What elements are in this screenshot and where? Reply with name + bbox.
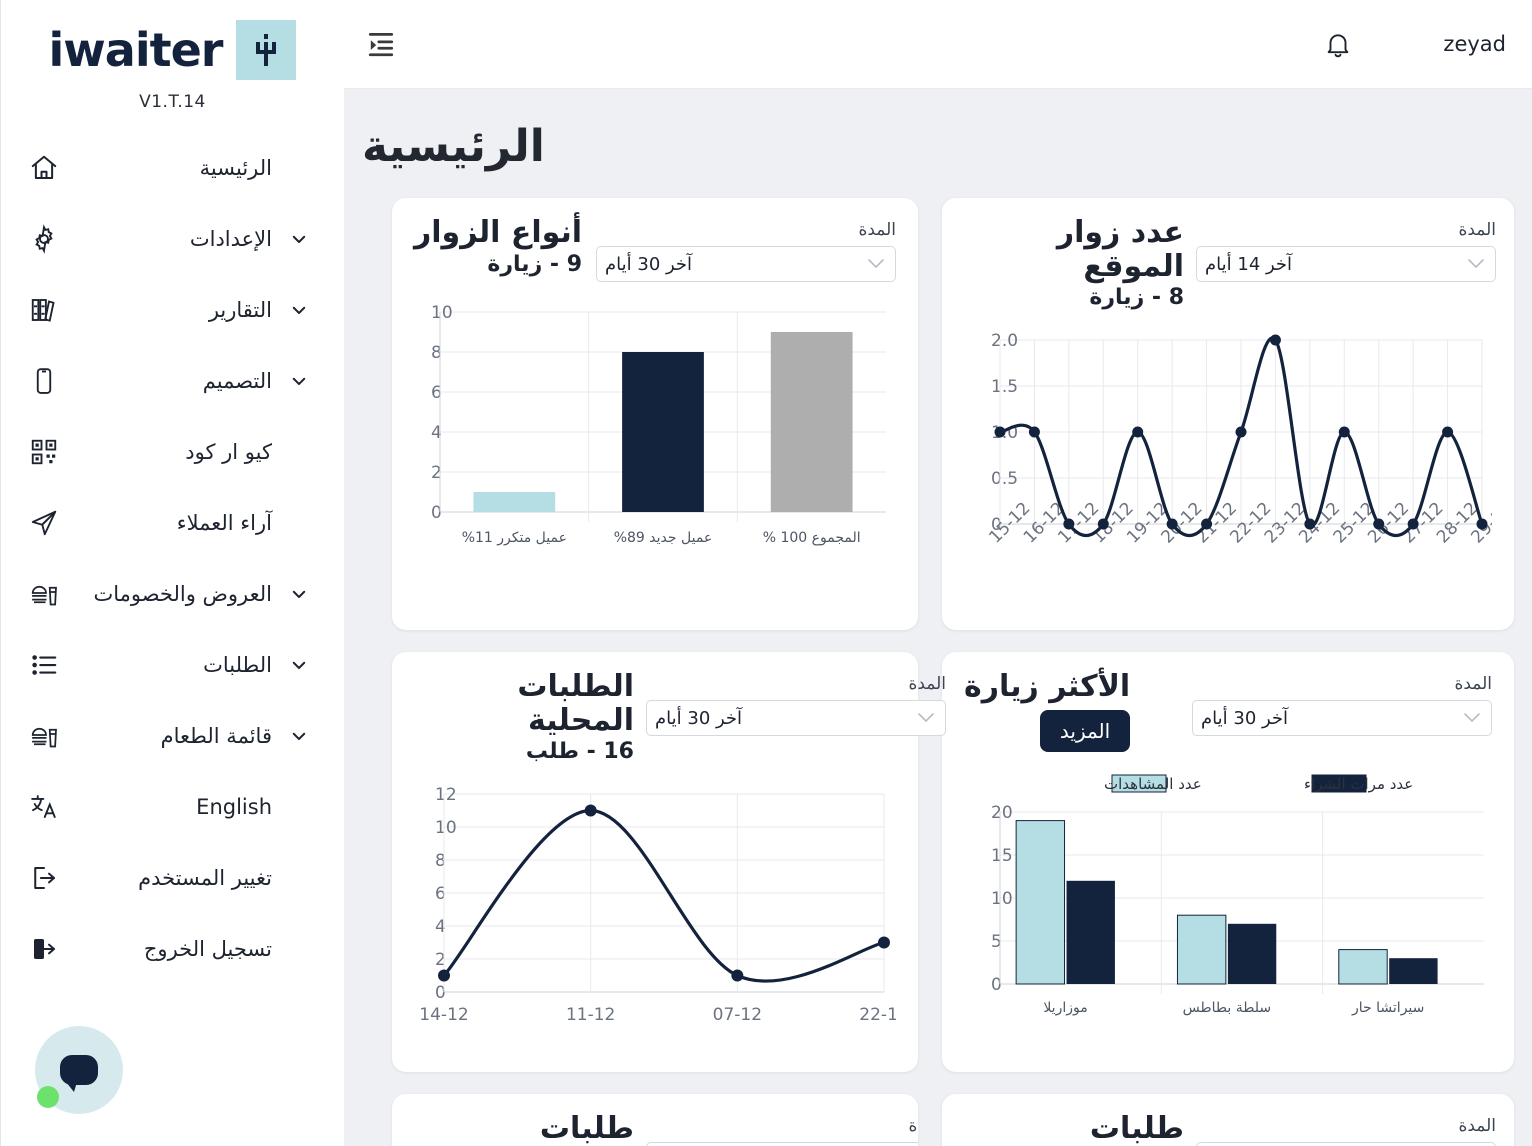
sidebar-item-qrcode[interactable]: كيو ار كود xyxy=(1,416,344,487)
svg-text:سيراتشا حار: سيراتشا حار xyxy=(1351,1000,1424,1016)
chevron-down-icon[interactable] xyxy=(288,301,310,319)
chart-visitor-types: 0246810عميل متكرر 11%عميل جديد 89%المجمو… xyxy=(414,298,896,588)
chevron-down-icon xyxy=(867,256,885,272)
chevron-down-icon[interactable] xyxy=(288,230,310,248)
sidebar-item-label: آراء العملاء xyxy=(61,511,288,535)
chevron-down-icon xyxy=(1467,256,1485,272)
send-paper-plane-icon xyxy=(27,506,61,540)
menu-collapse-icon[interactable] xyxy=(344,30,418,58)
topbar: zeyad xyxy=(344,0,1532,89)
svg-text:11-12: 11-12 xyxy=(566,1005,615,1025)
chevron-down-icon[interactable] xyxy=(288,372,310,390)
bell-icon[interactable] xyxy=(1323,29,1383,59)
sidebar-item-label: تسجيل الخروج xyxy=(61,937,288,961)
card-subtitle: 8 - زيارة xyxy=(964,285,1184,310)
svg-text:12: 12 xyxy=(435,785,457,805)
svg-text:موزاريلا: موزاريلا xyxy=(1043,1000,1087,1016)
burger-drink-icon xyxy=(27,577,61,611)
sidebar-item-language[interactable]: English xyxy=(1,771,344,842)
duration-select[interactable]: آخر 30 أيام xyxy=(596,246,896,282)
duration-select-value: آخر 30 أيام xyxy=(655,708,742,729)
duration-select[interactable]: آخر 30 أيام xyxy=(1192,700,1492,736)
home-icon xyxy=(27,151,61,185)
switch-user-icon xyxy=(27,861,61,895)
svg-text:10: 10 xyxy=(435,818,457,838)
chart-site-visitors: 00.51.01.52.015-1216-1217-1218-1219-1220… xyxy=(964,326,1492,616)
card-most-visited: الأكثر زيارة المزيد المدة آخر 30 أيام xyxy=(942,652,1514,1072)
svg-text:عميل متكرر 11%: عميل متكرر 11% xyxy=(462,530,567,546)
card-title: الطلبات المحلية xyxy=(414,670,634,737)
sidebar-item-label: التصميم xyxy=(61,369,288,393)
duration-select[interactable]: آخر 30 أيام xyxy=(646,700,946,736)
sidebar-item-offers-discounts[interactable]: العروض والخصومات xyxy=(1,558,344,629)
sidebar-item-home[interactable]: الرئيسية xyxy=(1,132,344,203)
chevron-down-icon xyxy=(1463,710,1481,726)
svg-text:10: 10 xyxy=(991,889,1013,909)
cards-grid: عدد زوار الموقع 8 - زيارة المدة آخر 14 أ… xyxy=(362,198,1514,1146)
duration-select-value: آخر 14 أيام xyxy=(1205,254,1292,275)
sidebar-item-settings[interactable]: الإعدادات xyxy=(1,203,344,274)
translate-icon xyxy=(27,790,61,824)
sidebar-item-label: تغيير المستخدم xyxy=(61,866,288,890)
svg-text:2.0: 2.0 xyxy=(991,331,1018,351)
sidebar-item-label: الإعدادات xyxy=(61,227,288,251)
sidebar-item-label: الطلبات xyxy=(61,653,288,677)
chart-most-visited: عدد مرات الشراءعدد المشاهدات05101520موزا… xyxy=(964,768,1492,1058)
sidebar-item-switch-user[interactable]: تغيير المستخدم xyxy=(1,842,344,913)
filter-label: المدة xyxy=(1196,1116,1496,1136)
card-local-orders: الطلبات المحلية 16 - طلب المدة آخر 30 أي… xyxy=(392,652,918,1072)
app-root: iwaiter V1.T.14 الرئيسية الإعدادات ال xyxy=(0,0,1532,1146)
card-site-visitors: عدد زوار الموقع 8 - زيارة المدة آخر 14 أ… xyxy=(942,198,1514,630)
svg-text:15: 15 xyxy=(991,846,1013,866)
sidebar-item-design[interactable]: التصميم xyxy=(1,345,344,416)
svg-text:عدد المشاهدات: عدد المشاهدات xyxy=(1104,775,1202,793)
logout-icon xyxy=(27,932,61,966)
dashboard-content: الرئيسية عدد زوار الموقع 8 - زيارة المدة… xyxy=(344,89,1532,1146)
card-title: طلبات التوصيل xyxy=(414,1112,634,1146)
chat-bubble-icon xyxy=(60,1055,98,1085)
page-title: الرئيسية xyxy=(362,89,1514,198)
duration-select[interactable]: آخر 30 أيام xyxy=(1196,1142,1496,1146)
sidebar-item-label: الرئيسية xyxy=(61,156,288,180)
topbar-user-area: zeyad xyxy=(1323,29,1506,59)
sidebar-item-label: قائمة الطعام xyxy=(61,724,288,748)
duration-select[interactable]: آخر 30 أيام xyxy=(646,1142,918,1146)
chevron-down-icon[interactable] xyxy=(288,585,310,603)
card-pickup-orders: طلبات الاستلام 6 - طلب المدة آخر 30 أيام xyxy=(942,1094,1514,1146)
brand-wordmark: iwaiter xyxy=(49,27,223,73)
filter-label: المدة xyxy=(646,1116,918,1136)
sidebar-item-orders[interactable]: الطلبات xyxy=(1,629,344,700)
card-subtitle: 16 - طلب xyxy=(414,739,634,764)
card-title: الأكثر زيارة xyxy=(964,670,1130,704)
filter-label: المدة xyxy=(1196,220,1496,240)
brand-logo: iwaiter xyxy=(1,0,344,80)
chevron-down-icon[interactable] xyxy=(288,727,310,745)
svg-text:20: 20 xyxy=(991,803,1013,823)
chevron-down-icon xyxy=(917,710,935,726)
sidebar-item-label: التقارير xyxy=(61,298,288,322)
username-label: zeyad xyxy=(1443,32,1506,56)
chat-online-status-dot xyxy=(37,1086,59,1108)
app-version: V1.T.14 xyxy=(1,92,344,112)
card-subtitle: 9 - زيارة xyxy=(414,252,582,277)
sidebar-item-logout[interactable]: تسجيل الخروج xyxy=(1,913,344,984)
sidebar-item-food-menu[interactable]: قائمة الطعام xyxy=(1,700,344,771)
svg-text:سلطة بطاطس: سلطة بطاطس xyxy=(1183,1000,1271,1016)
card-visitor-types: أنواع الزوار 9 - زيارة المدة آخر 30 أيام xyxy=(392,198,918,630)
svg-text:عدد مرات الشراء: عدد مرات الشراء xyxy=(1304,775,1413,793)
burger-drink-icon xyxy=(27,719,61,753)
duration-select[interactable]: آخر 14 أيام xyxy=(1196,246,1496,282)
svg-text:عميل جديد 89%: عميل جديد 89% xyxy=(614,530,713,546)
svg-text:22-12: 22-12 xyxy=(859,1005,896,1025)
sidebar-item-customer-reviews[interactable]: آراء العملاء xyxy=(1,487,344,558)
gear-icon xyxy=(27,222,61,256)
filter-label: المدة xyxy=(1192,674,1492,694)
filter-label: المدة xyxy=(596,220,896,240)
sidebar: iwaiter V1.T.14 الرئيسية الإعدادات ال xyxy=(0,0,344,1146)
sidebar-item-label: العروض والخصومات xyxy=(61,582,288,606)
svg-text:10: 10 xyxy=(431,303,453,323)
svg-text:1.5: 1.5 xyxy=(991,377,1018,397)
svg-text:07-12: 07-12 xyxy=(713,1005,762,1025)
card-title: أنواع الزوار xyxy=(414,216,582,250)
svg-text:المجموع 100 %: المجموع 100 % xyxy=(763,530,861,546)
fork-logo-icon xyxy=(236,20,296,80)
svg-text:0.5: 0.5 xyxy=(991,469,1018,489)
chevron-down-icon[interactable] xyxy=(288,656,310,674)
qr-code-icon xyxy=(27,435,61,469)
list-icon xyxy=(27,648,61,682)
card-title: عدد زوار الموقع xyxy=(964,216,1184,283)
sidebar-item-reports[interactable]: التقارير xyxy=(1,274,344,345)
more-button[interactable]: المزيد xyxy=(1040,710,1130,752)
sidebar-item-label: كيو ار كود xyxy=(61,440,288,464)
filter-label: المدة xyxy=(646,674,946,694)
card-delivery-orders: طلبات التوصيل 1 - طلب المدة آخر 30 أيام xyxy=(392,1094,918,1146)
mobile-icon xyxy=(27,364,61,398)
duration-select-value: آخر 30 أيام xyxy=(605,254,692,275)
chat-fab-button[interactable] xyxy=(35,1026,123,1114)
chart-local-orders: 02468101214-1211-1207-1222-12 xyxy=(414,780,896,1058)
reports-books-icon xyxy=(27,293,61,327)
card-title: طلبات الاستلام xyxy=(964,1112,1184,1146)
svg-text:14-12: 14-12 xyxy=(419,1005,468,1025)
main-area: zeyad الرئيسية عدد زوار الموقع 8 - زيارة… xyxy=(344,0,1532,1146)
sidebar-nav: الرئيسية الإعدادات التقارير xyxy=(1,132,344,984)
sidebar-item-label: English xyxy=(61,795,288,819)
duration-select-value: آخر 30 أيام xyxy=(1201,708,1288,729)
